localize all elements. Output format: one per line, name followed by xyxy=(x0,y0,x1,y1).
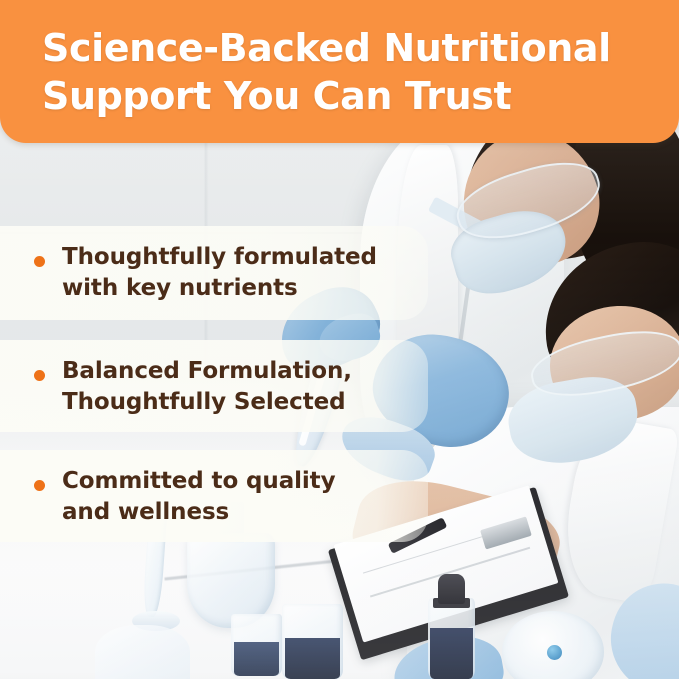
beaker-large-liquid xyxy=(285,638,341,679)
glassware-left xyxy=(95,625,190,679)
headline-banner: Science-Backed Nutritional Support You C… xyxy=(0,0,679,143)
bullet-dot-icon xyxy=(34,256,45,267)
feature-card-3: Committed to quality and wellness xyxy=(0,450,428,542)
feature-card-3-text: Committed to quality and wellness xyxy=(62,466,335,528)
feature-card-1-text: Thoughtfully formulated with key nutrien… xyxy=(62,242,377,304)
dropper-bottle-cap xyxy=(438,574,465,605)
feature-card-2-text: Balanced Formulation, Thoughtfully Selec… xyxy=(62,356,352,418)
feature-card-2: Balanced Formulation, Thoughtfully Selec… xyxy=(0,340,428,432)
promo-image: Science-Backed Nutritional Support You C… xyxy=(0,0,679,679)
beaker-small-liquid xyxy=(234,642,279,676)
feature-card-1: Thoughtfully formulated with key nutrien… xyxy=(0,226,428,320)
dropper-bottle-liquid xyxy=(430,628,472,679)
headline-title: Science-Backed Nutritional Support You C… xyxy=(42,24,642,120)
petri-dish-droplet xyxy=(547,645,562,660)
bullet-dot-icon xyxy=(34,370,45,381)
bullet-dot-icon xyxy=(34,480,45,491)
